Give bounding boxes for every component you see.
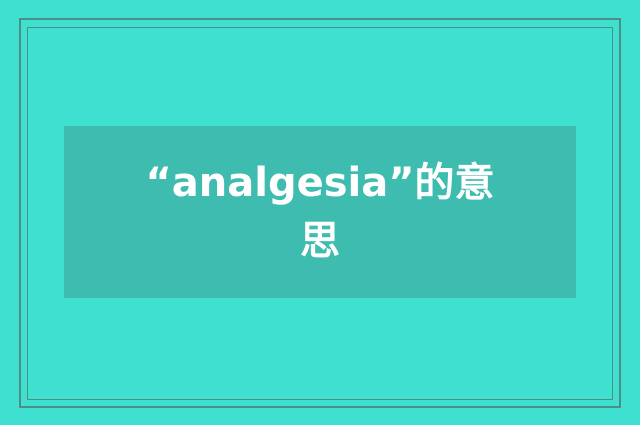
title-panel: “analgesia”的意思 — [64, 126, 576, 298]
image-card: “analgesia”的意思 — [0, 0, 640, 425]
page-title: “analgesia”的意思 — [140, 154, 500, 270]
